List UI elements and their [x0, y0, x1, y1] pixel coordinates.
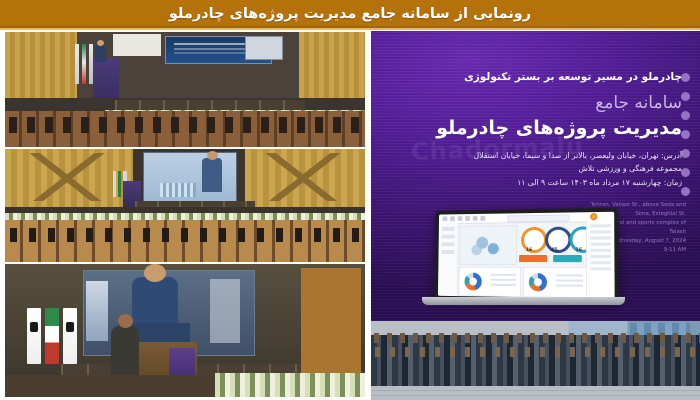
audience-heads [5, 228, 365, 242]
x-beam-left [11, 153, 123, 201]
gear-icon [590, 213, 597, 220]
organization-flag-icon [27, 308, 41, 364]
iran-flag-icon [45, 308, 59, 364]
wood-wall-left [5, 32, 77, 104]
dashboard-screen: 16 45 16 [438, 212, 615, 299]
legend-item [556, 279, 583, 281]
gauge-teal-value: 16 [576, 248, 582, 253]
donut-ring [464, 273, 481, 291]
crowd-heads-back-row [371, 333, 700, 343]
chart-legend [556, 274, 583, 290]
projection-screen [143, 152, 237, 202]
poster-tagline: چادرملو در مسیر توسعه بر بستر تکنولوژی [419, 71, 682, 83]
x-beam-right [247, 153, 359, 201]
panel-row [590, 224, 611, 227]
panel-row [590, 230, 611, 233]
address-line-1: آدرس: تهران، خیابان ولیعصر، بالاتر از صد… [397, 149, 682, 162]
poster-composite-image: رونمایی از سامانه جامع مدیریت پروژه‌های … [0, 0, 700, 400]
audience-heads [5, 117, 365, 133]
projected-speaker [202, 158, 222, 192]
dot-decoration [681, 73, 690, 196]
panel-row [590, 261, 611, 264]
donut-ring [529, 273, 547, 291]
gauge-orange [521, 227, 547, 253]
laptop-base [422, 297, 625, 305]
panel-row [590, 236, 611, 239]
sidebar-item [441, 242, 454, 246]
wood-panel-right [301, 268, 361, 376]
laptop-mockup: 16 45 16 [431, 209, 616, 313]
left-photo-gallery [5, 32, 365, 397]
laptop-lid: 16 45 16 [434, 208, 619, 303]
toolbar-icon [450, 216, 455, 221]
gauge-blue-value: 45 [551, 248, 557, 253]
poster-address-block: آدرس: تهران، خیابان ولیعصر، بالاتر از صد… [397, 149, 682, 189]
dot-icon [681, 111, 690, 120]
sidebar-item [442, 227, 455, 231]
dot-icon [681, 73, 690, 82]
page-title: رونمایی از سامانه جامع مدیریت پروژه‌های … [169, 6, 531, 22]
toolbar-icon [473, 216, 478, 221]
event-poster: Chadormalu چادرملو در مسیر توسعه بر بستر… [371, 31, 700, 321]
flower-decoration [215, 373, 365, 397]
photo-speaker-at-podium [5, 264, 365, 397]
legend-item [491, 274, 516, 276]
wood-wall-right [299, 32, 365, 104]
iran-flag-icon [82, 44, 86, 84]
dot-icon [681, 149, 690, 158]
panel-row [590, 243, 611, 246]
right-panel: Chadormalu چادرملو در مسیر توسعه بر بستر… [371, 31, 700, 400]
gauge-orange-value: 16 [526, 248, 532, 253]
action-button-teal [553, 255, 582, 262]
sidebar-item [441, 250, 454, 254]
toolbar-icon [443, 216, 448, 221]
address-line-2: مجموعه فرهنگی و ورزشی تلاش [397, 162, 682, 175]
sidebar-item [442, 235, 455, 239]
speaker-figure [95, 45, 106, 62]
chadormalu-flag-icon [63, 308, 77, 364]
page-header-bar: رونمایی از سامانه جامع مدیریت پروژه‌های … [0, 0, 700, 28]
event-time-line: زمان: چهارشنبه ۱۷ مرداد ماه ۱۴۰۳ ساعت ۹ … [397, 176, 682, 189]
dot-icon [681, 130, 690, 139]
legend-item [556, 284, 583, 286]
crowd-heads-front-row [371, 347, 700, 357]
projected-flowers [160, 183, 196, 197]
photo-hall-projection-screen [5, 149, 365, 262]
dot-icon [681, 187, 690, 196]
photo-staff-group [371, 321, 700, 400]
flag-left-icon [75, 44, 79, 84]
legend-item [556, 274, 583, 276]
legend-item [490, 284, 516, 286]
whiteboard [113, 34, 161, 56]
action-button-orange [519, 255, 547, 262]
projected-flag [86, 281, 108, 341]
projected-panel [210, 279, 240, 343]
donut-chart-left [459, 267, 521, 297]
toolbar-icon [480, 216, 485, 221]
dot-icon [681, 168, 690, 177]
legend-item [490, 279, 515, 281]
toolbar-icon [465, 216, 470, 221]
map-widget [459, 225, 517, 265]
toolbar-icon [458, 216, 463, 221]
panel-row [590, 267, 611, 270]
chart-legend [490, 274, 516, 289]
header-divider [0, 28, 700, 30]
poster-title: مدیریت پروژه‌های چادرملو [401, 117, 682, 139]
side-panel [245, 36, 283, 60]
dashboard-right-panel [586, 221, 615, 299]
staircase [371, 386, 700, 400]
panel-row [590, 255, 611, 258]
poster-subtitle: سامانه جامع [419, 93, 682, 113]
projected-speaker [132, 277, 178, 329]
panel-row [590, 249, 611, 252]
donut-chart-right [523, 267, 588, 298]
dashboard-sidebar [438, 223, 459, 296]
search-input [507, 214, 569, 222]
podium [93, 58, 119, 102]
dot-icon [681, 92, 690, 101]
gauge-blue [545, 227, 571, 253]
photo-auditorium-wide-shot [5, 32, 365, 147]
